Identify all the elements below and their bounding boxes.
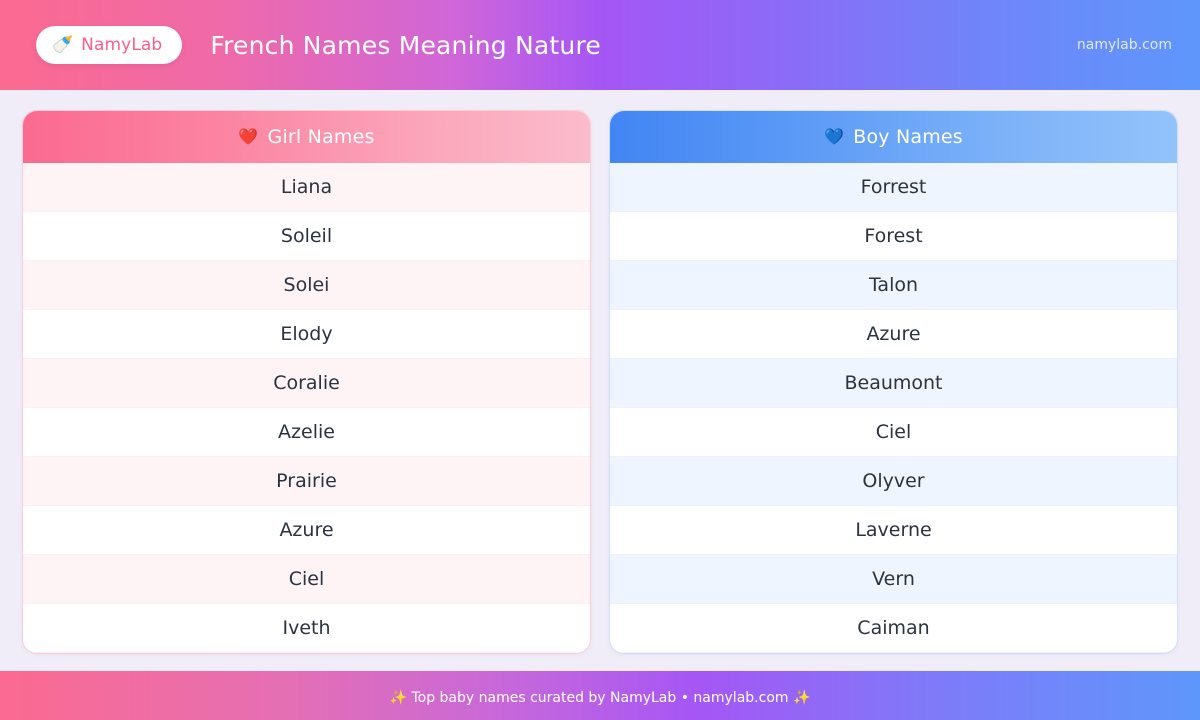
girl-names-list: Liana Soleil Solei Elody Coralie Azelie … — [23, 163, 590, 653]
poster-root: 🍼 NamyLab French Names Meaning Nature na… — [0, 0, 1200, 720]
list-item[interactable]: Laverne — [610, 506, 1177, 555]
red-heart-icon: ❤️ — [238, 129, 258, 145]
list-item[interactable]: Azure — [23, 506, 590, 555]
list-item[interactable]: Elody — [23, 310, 590, 359]
page-title: French Names Meaning Nature — [210, 31, 601, 60]
blue-heart-icon: 💙 — [824, 129, 844, 145]
page-footer: ✨ Top baby names curated by NamyLab • na… — [0, 671, 1200, 720]
list-item[interactable]: Ciel — [23, 555, 590, 604]
girl-names-header: ❤️ Girl Names — [23, 111, 590, 163]
list-item[interactable]: Prairie — [23, 457, 590, 506]
list-item[interactable]: Olyver — [610, 457, 1177, 506]
list-item[interactable]: Vern — [610, 555, 1177, 604]
brand-name: NamyLab — [81, 35, 162, 55]
girl-names-title: Girl Names — [268, 126, 375, 148]
footer-text: ✨ Top baby names curated by NamyLab • na… — [390, 690, 811, 706]
list-item[interactable]: Coralie — [23, 359, 590, 408]
boy-names-card: 💙 Boy Names Forrest Forest Talon Azure B… — [609, 110, 1178, 654]
boy-names-list: Forrest Forest Talon Azure Beaumont Ciel… — [610, 163, 1177, 653]
page-header: 🍼 NamyLab French Names Meaning Nature na… — [0, 0, 1200, 90]
brand-badge[interactable]: 🍼 NamyLab — [36, 26, 182, 64]
list-item[interactable]: Iveth — [23, 604, 590, 653]
boy-names-header: 💙 Boy Names — [610, 111, 1177, 163]
list-item[interactable]: Ciel — [610, 408, 1177, 457]
girl-names-card: ❤️ Girl Names Liana Soleil Solei Elody C… — [22, 110, 591, 654]
list-item[interactable]: Forest — [610, 212, 1177, 261]
list-item[interactable]: Azure — [610, 310, 1177, 359]
list-item[interactable]: Talon — [610, 261, 1177, 310]
site-url: namylab.com — [1077, 37, 1172, 53]
boy-names-title: Boy Names — [853, 126, 963, 148]
baby-bottle-icon: 🍼 — [52, 37, 73, 54]
list-item[interactable]: Soleil — [23, 212, 590, 261]
list-item[interactable]: Beaumont — [610, 359, 1177, 408]
list-item[interactable]: Forrest — [610, 163, 1177, 212]
name-columns: ❤️ Girl Names Liana Soleil Solei Elody C… — [0, 90, 1200, 654]
list-item[interactable]: Solei — [23, 261, 590, 310]
list-item[interactable]: Caiman — [610, 604, 1177, 653]
list-item[interactable]: Liana — [23, 163, 590, 212]
list-item[interactable]: Azelie — [23, 408, 590, 457]
